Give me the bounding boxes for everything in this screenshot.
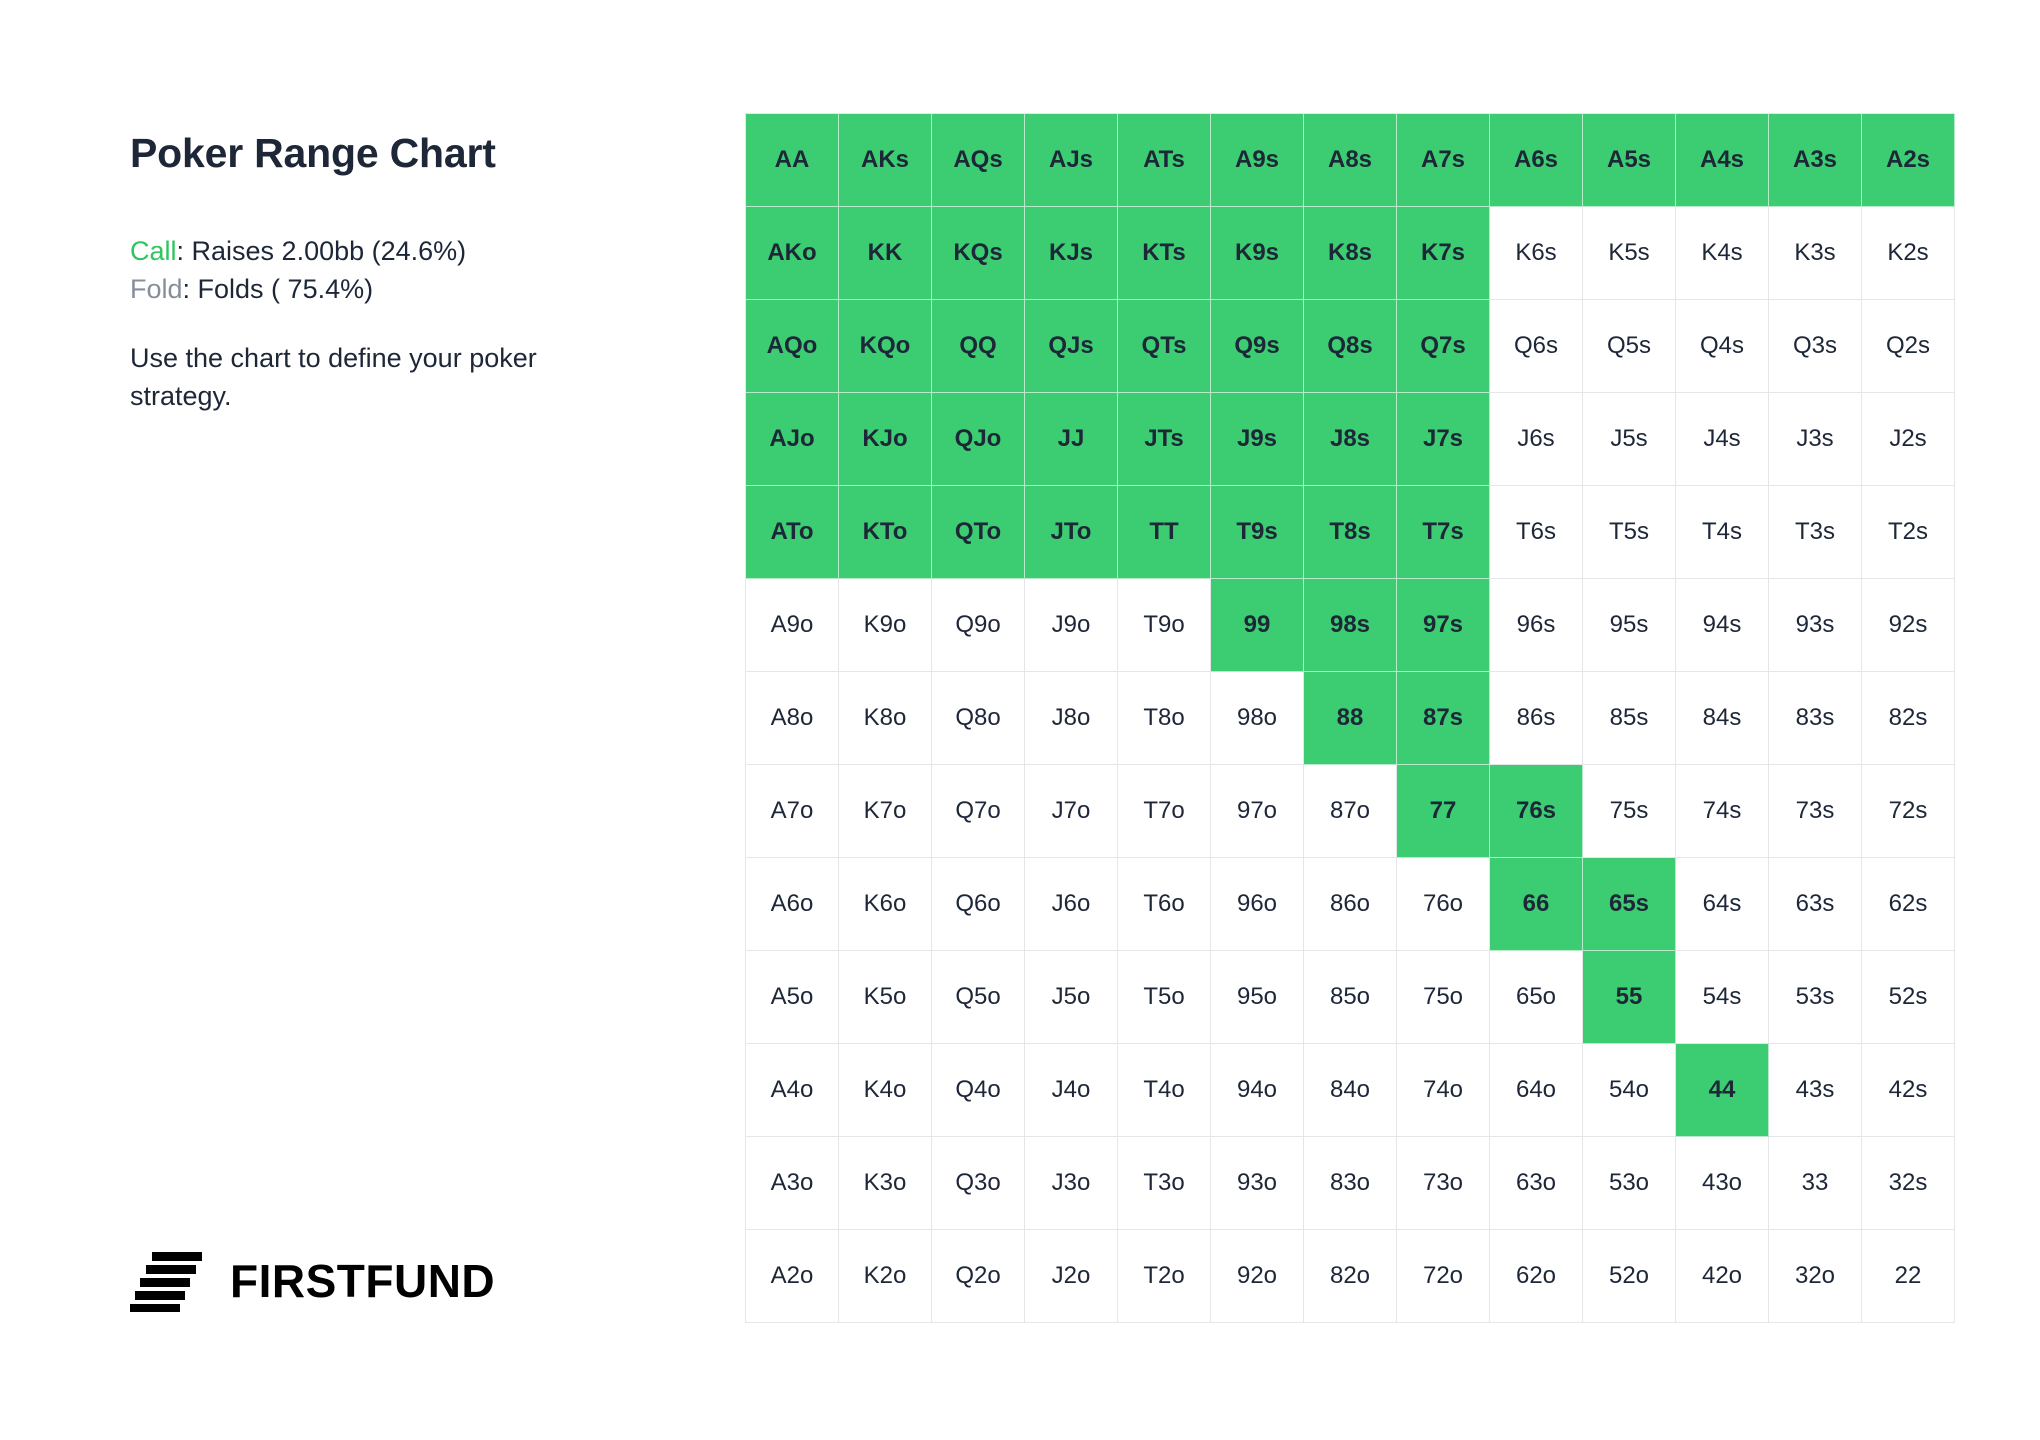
- range-cell-85o[interactable]: 85o: [1304, 951, 1397, 1044]
- range-cell-A7s[interactable]: A7s: [1397, 114, 1490, 207]
- range-cell-JJ[interactable]: JJ: [1025, 393, 1118, 486]
- range-cell-K7o[interactable]: K7o: [839, 765, 932, 858]
- range-cell-A8s[interactable]: A8s: [1304, 114, 1397, 207]
- range-cell-T5s[interactable]: T5s: [1583, 486, 1676, 579]
- range-cell-JTs[interactable]: JTs: [1118, 393, 1211, 486]
- range-cell-K3o[interactable]: K3o: [839, 1137, 932, 1230]
- range-cell-J7o[interactable]: J7o: [1025, 765, 1118, 858]
- range-cell-AKo[interactable]: AKo: [746, 207, 839, 300]
- range-cell-43s[interactable]: 43s: [1769, 1044, 1862, 1137]
- range-cell-T2o[interactable]: T2o: [1118, 1230, 1211, 1323]
- range-cell-64o[interactable]: 64o: [1490, 1044, 1583, 1137]
- range-cell-K4o[interactable]: K4o: [839, 1044, 932, 1137]
- range-cell-T6s[interactable]: T6s: [1490, 486, 1583, 579]
- range-cell-99[interactable]: 99: [1211, 579, 1304, 672]
- range-cell-72s[interactable]: 72s: [1862, 765, 1955, 858]
- range-cell-ATo[interactable]: ATo: [746, 486, 839, 579]
- range-cell-A2o[interactable]: A2o: [746, 1230, 839, 1323]
- range-cell-K3s[interactable]: K3s: [1769, 207, 1862, 300]
- range-cell-86s[interactable]: 86s: [1490, 672, 1583, 765]
- legend: Call: Raises 2.00bb (24.6%) Fold: Folds …: [130, 232, 550, 309]
- range-cell-J2s[interactable]: J2s: [1862, 393, 1955, 486]
- range-cell-KK[interactable]: KK: [839, 207, 932, 300]
- range-cell-AQs[interactable]: AQs: [932, 114, 1025, 207]
- range-cell-75o[interactable]: 75o: [1397, 951, 1490, 1044]
- range-cell-43o[interactable]: 43o: [1676, 1137, 1769, 1230]
- range-cell-A5o[interactable]: A5o: [746, 951, 839, 1044]
- range-cell-98o[interactable]: 98o: [1211, 672, 1304, 765]
- range-cell-KJo[interactable]: KJo: [839, 393, 932, 486]
- range-cell-Q2s[interactable]: Q2s: [1862, 300, 1955, 393]
- range-cell-J4s[interactable]: J4s: [1676, 393, 1769, 486]
- range-cell-AA[interactable]: AA: [746, 114, 839, 207]
- range-cell-63o[interactable]: 63o: [1490, 1137, 1583, 1230]
- range-cell-87o[interactable]: 87o: [1304, 765, 1397, 858]
- range-cell-77[interactable]: 77: [1397, 765, 1490, 858]
- range-cell-75s[interactable]: 75s: [1583, 765, 1676, 858]
- range-cell-98s[interactable]: 98s: [1304, 579, 1397, 672]
- range-cell-J2o[interactable]: J2o: [1025, 1230, 1118, 1323]
- range-cell-62s[interactable]: 62s: [1862, 858, 1955, 951]
- range-cell-52o[interactable]: 52o: [1583, 1230, 1676, 1323]
- range-cell-K6o[interactable]: K6o: [839, 858, 932, 951]
- range-cell-93o[interactable]: 93o: [1211, 1137, 1304, 1230]
- range-cell-33[interactable]: 33: [1769, 1137, 1862, 1230]
- range-cell-44[interactable]: 44: [1676, 1044, 1769, 1137]
- range-cell-96o[interactable]: 96o: [1211, 858, 1304, 951]
- range-cell-J7s[interactable]: J7s: [1397, 393, 1490, 486]
- range-cell-Q5s[interactable]: Q5s: [1583, 300, 1676, 393]
- range-cell-A6o[interactable]: A6o: [746, 858, 839, 951]
- range-cell-A3s[interactable]: A3s: [1769, 114, 1862, 207]
- range-cell-72o[interactable]: 72o: [1397, 1230, 1490, 1323]
- range-cell-32o[interactable]: 32o: [1769, 1230, 1862, 1323]
- range-cell-KJs[interactable]: KJs: [1025, 207, 1118, 300]
- range-cell-63s[interactable]: 63s: [1769, 858, 1862, 951]
- range-cell-Q4s[interactable]: Q4s: [1676, 300, 1769, 393]
- range-cell-KQs[interactable]: KQs: [932, 207, 1025, 300]
- range-cell-K9o[interactable]: K9o: [839, 579, 932, 672]
- range-cell-T9o[interactable]: T9o: [1118, 579, 1211, 672]
- range-cell-95o[interactable]: 95o: [1211, 951, 1304, 1044]
- range-cell-Q6s[interactable]: Q6s: [1490, 300, 1583, 393]
- range-cell-T7o[interactable]: T7o: [1118, 765, 1211, 858]
- range-cell-66[interactable]: 66: [1490, 858, 1583, 951]
- page-title: Poker Range Chart: [130, 128, 550, 178]
- range-cell-76o[interactable]: 76o: [1397, 858, 1490, 951]
- range-cell-AQo[interactable]: AQo: [746, 300, 839, 393]
- range-cell-A7o[interactable]: A7o: [746, 765, 839, 858]
- range-cell-Q8s[interactable]: Q8s: [1304, 300, 1397, 393]
- range-cell-87s[interactable]: 87s: [1397, 672, 1490, 765]
- range-cell-A9o[interactable]: A9o: [746, 579, 839, 672]
- range-cell-96s[interactable]: 96s: [1490, 579, 1583, 672]
- legend-value-call: : Raises 2.00bb (24.6%): [177, 236, 467, 266]
- range-cell-KTs[interactable]: KTs: [1118, 207, 1211, 300]
- range-cell-65o[interactable]: 65o: [1490, 951, 1583, 1044]
- range-cell-J9s[interactable]: J9s: [1211, 393, 1304, 486]
- range-cell-J3o[interactable]: J3o: [1025, 1137, 1118, 1230]
- range-grid-container: AAAKsAQsAJsATsA9sA8sA7sA6sA5sA4sA3sA2sAK…: [745, 113, 1955, 1323]
- range-cell-22[interactable]: 22: [1862, 1230, 1955, 1323]
- range-cell-QJo[interactable]: QJo: [932, 393, 1025, 486]
- range-cell-94s[interactable]: 94s: [1676, 579, 1769, 672]
- range-cell-52s[interactable]: 52s: [1862, 951, 1955, 1044]
- range-cell-92s[interactable]: 92s: [1862, 579, 1955, 672]
- range-cell-T4o[interactable]: T4o: [1118, 1044, 1211, 1137]
- range-cell-Q4o[interactable]: Q4o: [932, 1044, 1025, 1137]
- range-cell-82o[interactable]: 82o: [1304, 1230, 1397, 1323]
- range-cell-K8o[interactable]: K8o: [839, 672, 932, 765]
- range-cell-AKs[interactable]: AKs: [839, 114, 932, 207]
- range-cell-73o[interactable]: 73o: [1397, 1137, 1490, 1230]
- range-cell-73s[interactable]: 73s: [1769, 765, 1862, 858]
- range-cell-Q9o[interactable]: Q9o: [932, 579, 1025, 672]
- range-cell-K7s[interactable]: K7s: [1397, 207, 1490, 300]
- legend-value-fold: : Folds ( 75.4%): [183, 274, 374, 304]
- range-cell-42s[interactable]: 42s: [1862, 1044, 1955, 1137]
- range-cell-88[interactable]: 88: [1304, 672, 1397, 765]
- range-cell-AJs[interactable]: AJs: [1025, 114, 1118, 207]
- range-cell-QTs[interactable]: QTs: [1118, 300, 1211, 393]
- range-cell-K5o[interactable]: K5o: [839, 951, 932, 1044]
- info-panel: Poker Range Chart Call: Raises 2.00bb (2…: [130, 128, 550, 415]
- range-cell-95s[interactable]: 95s: [1583, 579, 1676, 672]
- poker-range-chart-page: Poker Range Chart Call: Raises 2.00bb (2…: [0, 0, 2040, 1440]
- range-cell-Q8o[interactable]: Q8o: [932, 672, 1025, 765]
- brand-logo: FIRSTFUND: [130, 1250, 495, 1312]
- range-cell-J6o[interactable]: J6o: [1025, 858, 1118, 951]
- range-cell-A4s[interactable]: A4s: [1676, 114, 1769, 207]
- range-cell-Q9s[interactable]: Q9s: [1211, 300, 1304, 393]
- range-cell-T8s[interactable]: T8s: [1304, 486, 1397, 579]
- range-cell-TT[interactable]: TT: [1118, 486, 1211, 579]
- range-cell-K9s[interactable]: K9s: [1211, 207, 1304, 300]
- range-cell-83o[interactable]: 83o: [1304, 1137, 1397, 1230]
- range-cell-J8s[interactable]: J8s: [1304, 393, 1397, 486]
- range-cell-K6s[interactable]: K6s: [1490, 207, 1583, 300]
- range-cell-J4o[interactable]: J4o: [1025, 1044, 1118, 1137]
- range-cell-97o[interactable]: 97o: [1211, 765, 1304, 858]
- range-cell-J5o[interactable]: J5o: [1025, 951, 1118, 1044]
- range-cell-83s[interactable]: 83s: [1769, 672, 1862, 765]
- range-cell-74s[interactable]: 74s: [1676, 765, 1769, 858]
- range-cell-T5o[interactable]: T5o: [1118, 951, 1211, 1044]
- logo-wordmark: FIRSTFUND: [230, 1254, 495, 1308]
- range-cell-54o[interactable]: 54o: [1583, 1044, 1676, 1137]
- range-cell-42o[interactable]: 42o: [1676, 1230, 1769, 1323]
- range-cell-K2o[interactable]: K2o: [839, 1230, 932, 1323]
- range-cell-Q6o[interactable]: Q6o: [932, 858, 1025, 951]
- range-cell-J9o[interactable]: J9o: [1025, 579, 1118, 672]
- range-cell-AJo[interactable]: AJo: [746, 393, 839, 486]
- range-cell-T6o[interactable]: T6o: [1118, 858, 1211, 951]
- range-cell-J6s[interactable]: J6s: [1490, 393, 1583, 486]
- range-cell-QTo[interactable]: QTo: [932, 486, 1025, 579]
- range-cell-Q7o[interactable]: Q7o: [932, 765, 1025, 858]
- range-cell-T3s[interactable]: T3s: [1769, 486, 1862, 579]
- range-cell-KQo[interactable]: KQo: [839, 300, 932, 393]
- range-cell-55[interactable]: 55: [1583, 951, 1676, 1044]
- range-cell-86o[interactable]: 86o: [1304, 858, 1397, 951]
- range-cell-QQ[interactable]: QQ: [932, 300, 1025, 393]
- range-cell-64s[interactable]: 64s: [1676, 858, 1769, 951]
- range-cell-J5s[interactable]: J5s: [1583, 393, 1676, 486]
- range-cell-T4s[interactable]: T4s: [1676, 486, 1769, 579]
- legend-key-call: Call: [130, 236, 177, 266]
- range-cell-82s[interactable]: 82s: [1862, 672, 1955, 765]
- range-cell-92o[interactable]: 92o: [1211, 1230, 1304, 1323]
- range-cell-54s[interactable]: 54s: [1676, 951, 1769, 1044]
- range-grid: AAAKsAQsAJsATsA9sA8sA7sA6sA5sA4sA3sA2sAK…: [745, 113, 1955, 1323]
- range-cell-53o[interactable]: 53o: [1583, 1137, 1676, 1230]
- range-cell-ATs[interactable]: ATs: [1118, 114, 1211, 207]
- range-cell-84o[interactable]: 84o: [1304, 1044, 1397, 1137]
- range-cell-65s[interactable]: 65s: [1583, 858, 1676, 951]
- range-cell-T3o[interactable]: T3o: [1118, 1137, 1211, 1230]
- range-cell-T9s[interactable]: T9s: [1211, 486, 1304, 579]
- range-cell-A5s[interactable]: A5s: [1583, 114, 1676, 207]
- range-cell-A3o[interactable]: A3o: [746, 1137, 839, 1230]
- range-cell-Q2o[interactable]: Q2o: [932, 1230, 1025, 1323]
- range-cell-K8s[interactable]: K8s: [1304, 207, 1397, 300]
- range-cell-Q7s[interactable]: Q7s: [1397, 300, 1490, 393]
- range-cell-85s[interactable]: 85s: [1583, 672, 1676, 765]
- range-cell-K2s[interactable]: K2s: [1862, 207, 1955, 300]
- range-cell-97s[interactable]: 97s: [1397, 579, 1490, 672]
- range-cell-KTo[interactable]: KTo: [839, 486, 932, 579]
- range-cell-53s[interactable]: 53s: [1769, 951, 1862, 1044]
- range-cell-A8o[interactable]: A8o: [746, 672, 839, 765]
- range-cell-74o[interactable]: 74o: [1397, 1044, 1490, 1137]
- legend-row-fold: Fold: Folds ( 75.4%): [130, 270, 550, 308]
- range-cell-Q5o[interactable]: Q5o: [932, 951, 1025, 1044]
- description-text: Use the chart to define your poker strat…: [130, 339, 540, 416]
- range-cell-T2s[interactable]: T2s: [1862, 486, 1955, 579]
- range-cell-K4s[interactable]: K4s: [1676, 207, 1769, 300]
- range-cell-A9s[interactable]: A9s: [1211, 114, 1304, 207]
- range-cell-A2s[interactable]: A2s: [1862, 114, 1955, 207]
- range-cell-QJs[interactable]: QJs: [1025, 300, 1118, 393]
- range-cell-A6s[interactable]: A6s: [1490, 114, 1583, 207]
- range-cell-K5s[interactable]: K5s: [1583, 207, 1676, 300]
- range-cell-J3s[interactable]: J3s: [1769, 393, 1862, 486]
- range-cell-76s[interactable]: 76s: [1490, 765, 1583, 858]
- range-cell-84s[interactable]: 84s: [1676, 672, 1769, 765]
- legend-key-fold: Fold: [130, 274, 183, 304]
- firstfund-logo-icon: [130, 1250, 208, 1312]
- range-cell-Q3s[interactable]: Q3s: [1769, 300, 1862, 393]
- range-cell-T8o[interactable]: T8o: [1118, 672, 1211, 765]
- range-cell-Q3o[interactable]: Q3o: [932, 1137, 1025, 1230]
- range-cell-32s[interactable]: 32s: [1862, 1137, 1955, 1230]
- range-cell-A4o[interactable]: A4o: [746, 1044, 839, 1137]
- range-cell-94o[interactable]: 94o: [1211, 1044, 1304, 1137]
- range-cell-93s[interactable]: 93s: [1769, 579, 1862, 672]
- range-cell-T7s[interactable]: T7s: [1397, 486, 1490, 579]
- range-cell-JTo[interactable]: JTo: [1025, 486, 1118, 579]
- legend-row-call: Call: Raises 2.00bb (24.6%): [130, 232, 550, 270]
- range-cell-J8o[interactable]: J8o: [1025, 672, 1118, 765]
- range-cell-62o[interactable]: 62o: [1490, 1230, 1583, 1323]
